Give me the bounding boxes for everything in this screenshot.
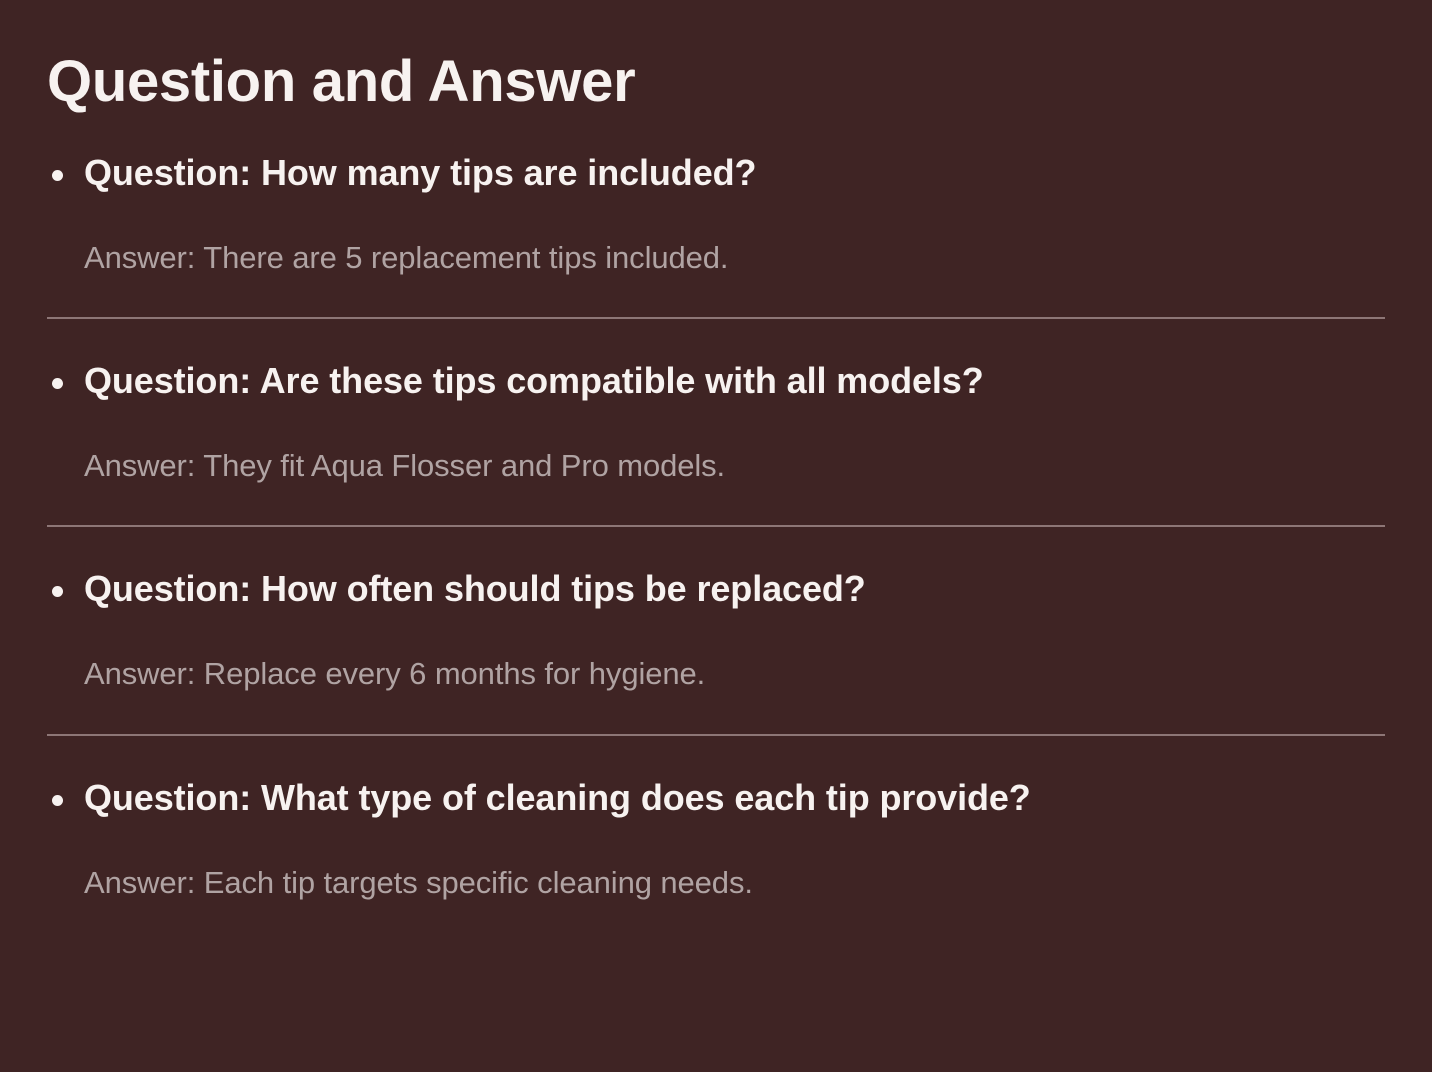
qa-item: Question: Are these tips compatible with…: [47, 360, 1385, 527]
qa-question-text: Question: How often should tips be repla…: [84, 568, 866, 609]
qa-question: Question: How many tips are included?: [47, 152, 1385, 193]
question-and-answer-panel: Question and Answer Question: How many t…: [0, 0, 1432, 1072]
qa-list: Question: How many tips are included? An…: [47, 152, 1385, 901]
bullet-dot-icon: [52, 586, 63, 597]
qa-answer: Answer: There are 5 replacement tips inc…: [47, 239, 1385, 276]
qa-question-text: Question: How many tips are included?: [84, 152, 756, 193]
qa-question: Question: What type of cleaning does eac…: [47, 777, 1385, 818]
qa-question-text: Question: What type of cleaning does eac…: [84, 777, 1031, 818]
bullet-dot-icon: [52, 378, 63, 389]
bullet-dot-icon: [52, 170, 63, 181]
qa-answer: Answer: Each tip targets specific cleani…: [47, 864, 1385, 901]
qa-item: Question: How many tips are included? An…: [47, 152, 1385, 319]
qa-answer: Answer: They fit Aqua Flosser and Pro mo…: [47, 447, 1385, 484]
qa-item: Question: What type of cleaning does eac…: [47, 777, 1385, 901]
qa-question: Question: How often should tips be repla…: [47, 568, 1385, 609]
page-title: Question and Answer: [47, 47, 1385, 111]
qa-item: Question: How often should tips be repla…: [47, 568, 1385, 735]
qa-question-text: Question: Are these tips compatible with…: [84, 360, 984, 401]
qa-question: Question: Are these tips compatible with…: [47, 360, 1385, 401]
qa-answer: Answer: Replace every 6 months for hygie…: [47, 655, 1385, 692]
bullet-dot-icon: [52, 795, 63, 806]
